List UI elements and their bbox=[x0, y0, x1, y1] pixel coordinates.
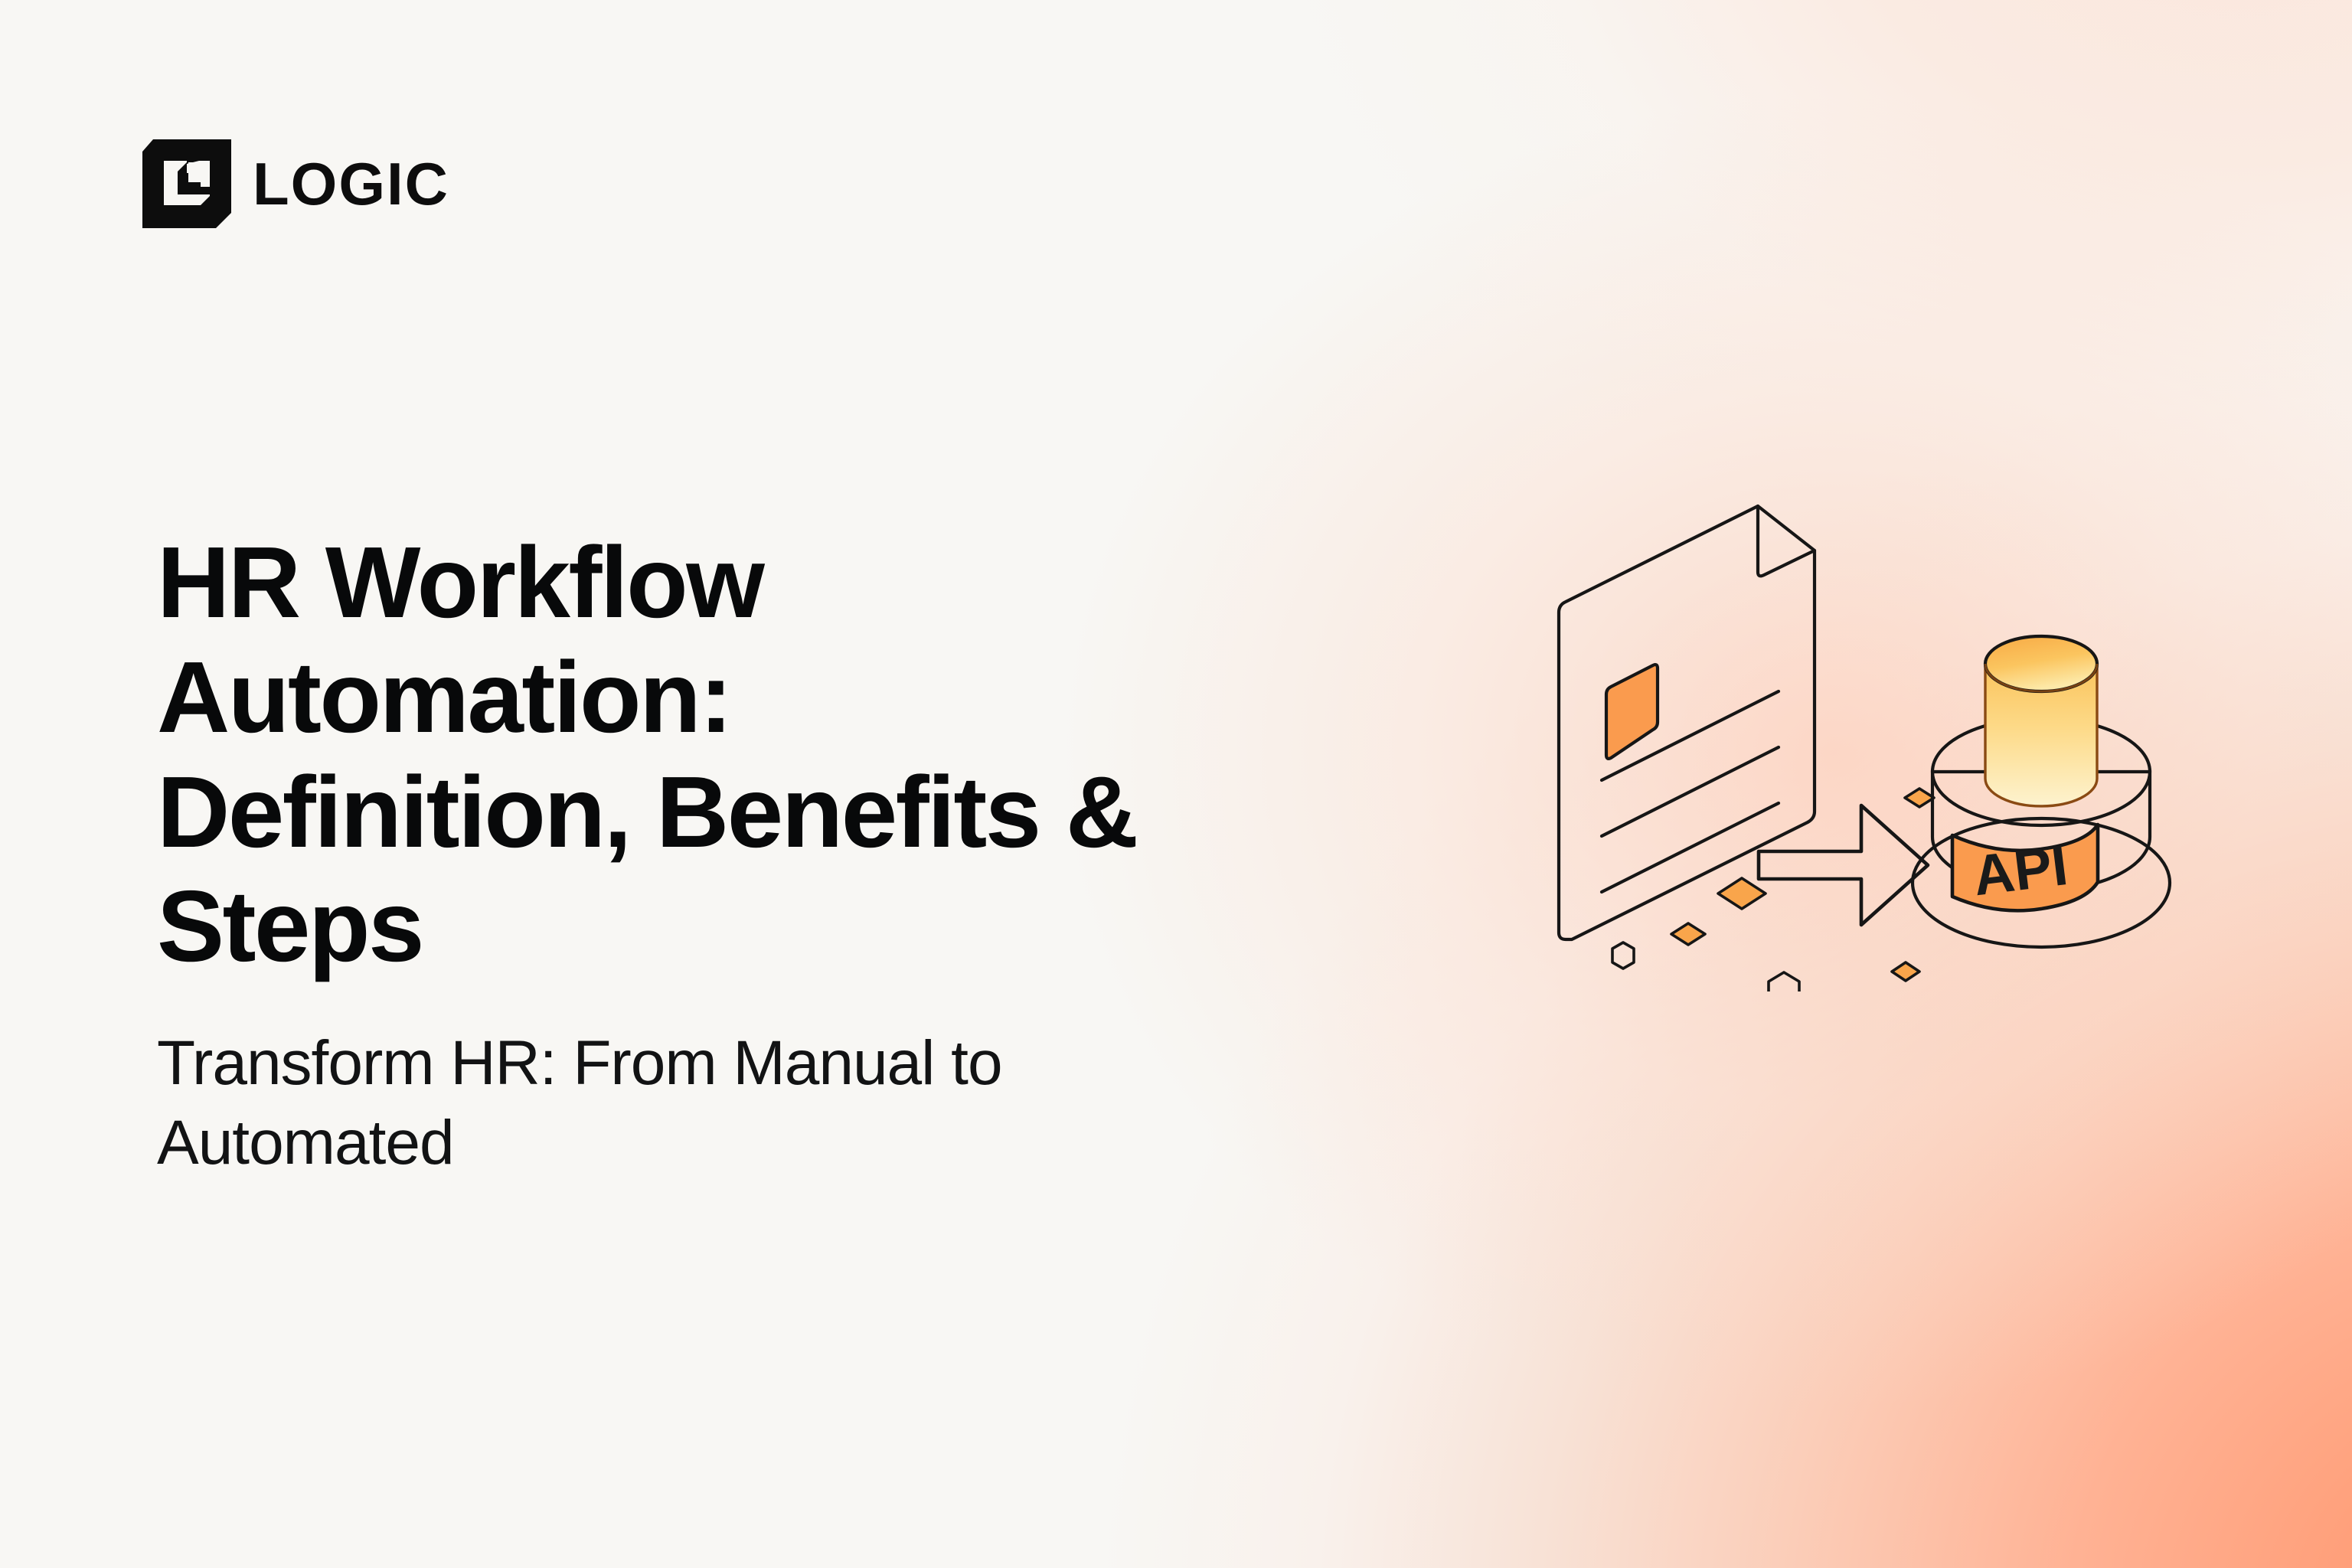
brand-wordmark: LOGIC bbox=[253, 154, 449, 214]
api-database-cylinder-icon: API bbox=[1913, 636, 2170, 947]
diamond-orange-2 bbox=[1892, 962, 1919, 981]
arrow-right-icon bbox=[1759, 805, 1928, 925]
hexagon-outline-1 bbox=[1612, 942, 1634, 969]
page-title: HR Workflow Automation: Definition, Bene… bbox=[157, 525, 1504, 984]
api-label-text: API bbox=[1970, 833, 2072, 907]
diamond-orange-4 bbox=[1671, 923, 1705, 945]
document-to-api-isometric-illustration: API bbox=[1547, 486, 2251, 991]
cylinder-core bbox=[1985, 636, 2097, 806]
hexagon-outline-2 bbox=[1769, 972, 1799, 991]
document-accent-block bbox=[1606, 665, 1658, 759]
hero-text-block: HR Workflow Automation: Definition, Bene… bbox=[157, 525, 1504, 1182]
page-subtitle: Transform HR: From Manual to Automated bbox=[157, 1024, 1504, 1182]
diamond-orange-1 bbox=[1905, 789, 1934, 807]
diamond-orange-3 bbox=[1718, 878, 1766, 909]
logic-logo-mark-icon bbox=[142, 139, 231, 228]
document-page-icon bbox=[1559, 506, 1815, 939]
brand-logo-lockup[interactable]: LOGIC bbox=[142, 139, 449, 228]
